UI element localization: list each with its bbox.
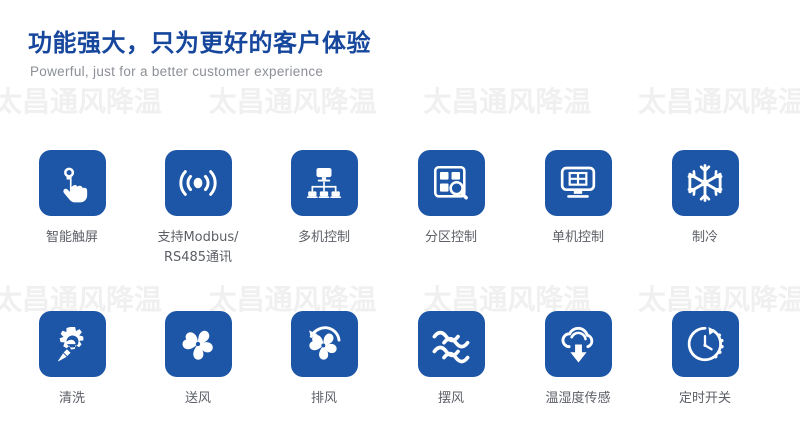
feature-cleaning[interactable]: 清洗 — [12, 311, 132, 409]
feature-timer-switch[interactable]: 定时开关 — [645, 311, 765, 409]
feature-temp-humidity-sensor[interactable]: 温湿度传感 — [518, 311, 638, 409]
fan-arrow-icon — [304, 324, 345, 365]
feature-icon-tile[interactable] — [165, 150, 232, 216]
timer-clock-icon — [684, 323, 726, 365]
fan-icon — [178, 324, 218, 364]
feature-multi-unit-control[interactable]: 多机控制 — [264, 150, 384, 248]
gear-brush-icon — [52, 324, 93, 365]
feature-label: 摆风 — [391, 389, 511, 409]
feature-label: 排风 — [264, 389, 384, 409]
snowflake-icon — [684, 162, 726, 204]
feature-icon-tile[interactable] — [39, 311, 106, 377]
feature-icon-tile[interactable] — [545, 150, 612, 216]
cloud-down-icon — [558, 324, 599, 365]
feature-single-unit-control[interactable]: 单机控制 — [518, 150, 638, 248]
feature-icon-tile[interactable] — [672, 311, 739, 377]
feature-icon-tile[interactable] — [418, 311, 485, 377]
feature-icon-tile[interactable] — [291, 311, 358, 377]
touch-hand-icon — [52, 163, 92, 203]
feature-label: 温湿度传感 — [518, 389, 638, 409]
feature-zone-control[interactable]: 分区控制 — [391, 150, 511, 248]
page-header: 功能强大，只为更好的客户体验 Powerful, just for a bett… — [28, 30, 371, 79]
feature-icon-tile[interactable] — [418, 150, 485, 216]
feature-label: 多机控制 — [264, 228, 384, 248]
zone-search-icon — [431, 163, 472, 204]
feature-icon-tile[interactable] — [291, 150, 358, 216]
feature-modbus-rs485[interactable]: 支持Modbus/ RS485通讯 — [138, 150, 258, 267]
page-subtitle: Powerful, just for a better customer exp… — [30, 64, 371, 79]
control-panel-icon — [558, 163, 598, 203]
feature-label: 清洗 — [12, 389, 132, 409]
feature-label: 单机控制 — [518, 228, 638, 248]
feature-icon-tile[interactable] — [39, 150, 106, 216]
feature-label: 智能触屏 — [12, 228, 132, 248]
feature-highlights-page: 太昌通风降温 太昌通风降温 太昌通风降温 太昌通风降温 太昌通风降温 太昌通风降… — [0, 0, 800, 441]
feature-label: 定时开关 — [645, 389, 765, 409]
wireless-signal-icon — [177, 162, 219, 204]
feature-air-supply[interactable]: 送风 — [138, 311, 258, 409]
network-topology-icon — [304, 163, 344, 203]
feature-label: 送风 — [138, 389, 258, 409]
feature-label: 支持Modbus/ RS485通讯 — [138, 228, 258, 267]
wave-lines-icon — [430, 323, 472, 365]
feature-cooling[interactable]: 制冷 — [645, 150, 765, 248]
feature-swing-air[interactable]: 摆风 — [391, 311, 511, 409]
feature-smart-touchscreen[interactable]: 智能触屏 — [12, 150, 132, 248]
feature-label: 制冷 — [645, 228, 765, 248]
feature-icon-tile[interactable] — [545, 311, 612, 377]
feature-icon-tile[interactable] — [165, 311, 232, 377]
feature-air-exhaust[interactable]: 排风 — [264, 311, 384, 409]
feature-label: 分区控制 — [391, 228, 511, 248]
page-title: 功能强大，只为更好的客户体验 — [28, 30, 371, 58]
feature-icon-tile[interactable] — [672, 150, 739, 216]
